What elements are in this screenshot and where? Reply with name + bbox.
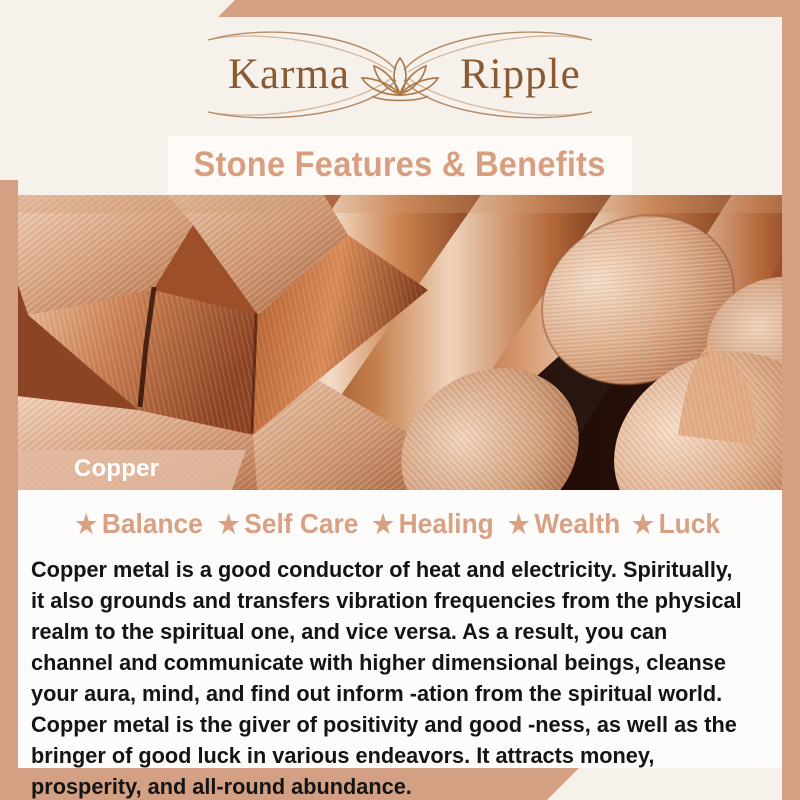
logo-artwork: Karma Ripple xyxy=(120,26,680,122)
description-text: Copper metal is a good conductor of heat… xyxy=(31,554,750,800)
brand-logo: Karma Ripple xyxy=(0,26,800,122)
page-title: Stone Features & Benefits xyxy=(194,145,606,185)
feature-label: Self Care xyxy=(244,508,358,540)
decor-band-top xyxy=(218,0,800,17)
decor-band-left xyxy=(0,180,18,800)
copper-photo-art xyxy=(18,195,782,490)
content-card: ★ Balance ★ Self Care ★ Healing ★ Wealth… xyxy=(18,490,782,768)
feature-label: Wealth xyxy=(534,508,620,540)
title-banner: Stone Features & Benefits xyxy=(168,136,632,194)
feature-label: Luck xyxy=(659,508,720,540)
star-icon: ★ xyxy=(372,511,394,537)
star-icon: ★ xyxy=(217,511,239,537)
feature-label: Healing xyxy=(399,508,494,540)
infographic-page: Karma Ripple Stone Features & Benefits xyxy=(0,0,800,800)
feature-item-wealth: ★ Wealth xyxy=(508,508,626,540)
star-icon: ★ xyxy=(632,511,654,537)
star-icon: ★ xyxy=(75,511,97,537)
lotus-icon xyxy=(362,58,438,101)
feature-item-self-care: ★ Self Care xyxy=(217,508,363,540)
features-list: ★ Balance ★ Self Care ★ Healing ★ Wealth… xyxy=(18,508,782,540)
brand-name-right: Ripple xyxy=(460,51,581,98)
hero-caption: Copper xyxy=(74,455,159,483)
star-icon: ★ xyxy=(508,511,530,537)
feature-item-balance: ★ Balance xyxy=(75,508,208,540)
feature-item-luck: ★ Luck xyxy=(632,508,726,540)
hero-image xyxy=(18,195,782,490)
feature-item-healing: ★ Healing xyxy=(372,508,499,540)
feature-label: Balance xyxy=(102,508,203,540)
brand-name-left: Karma xyxy=(228,51,350,98)
